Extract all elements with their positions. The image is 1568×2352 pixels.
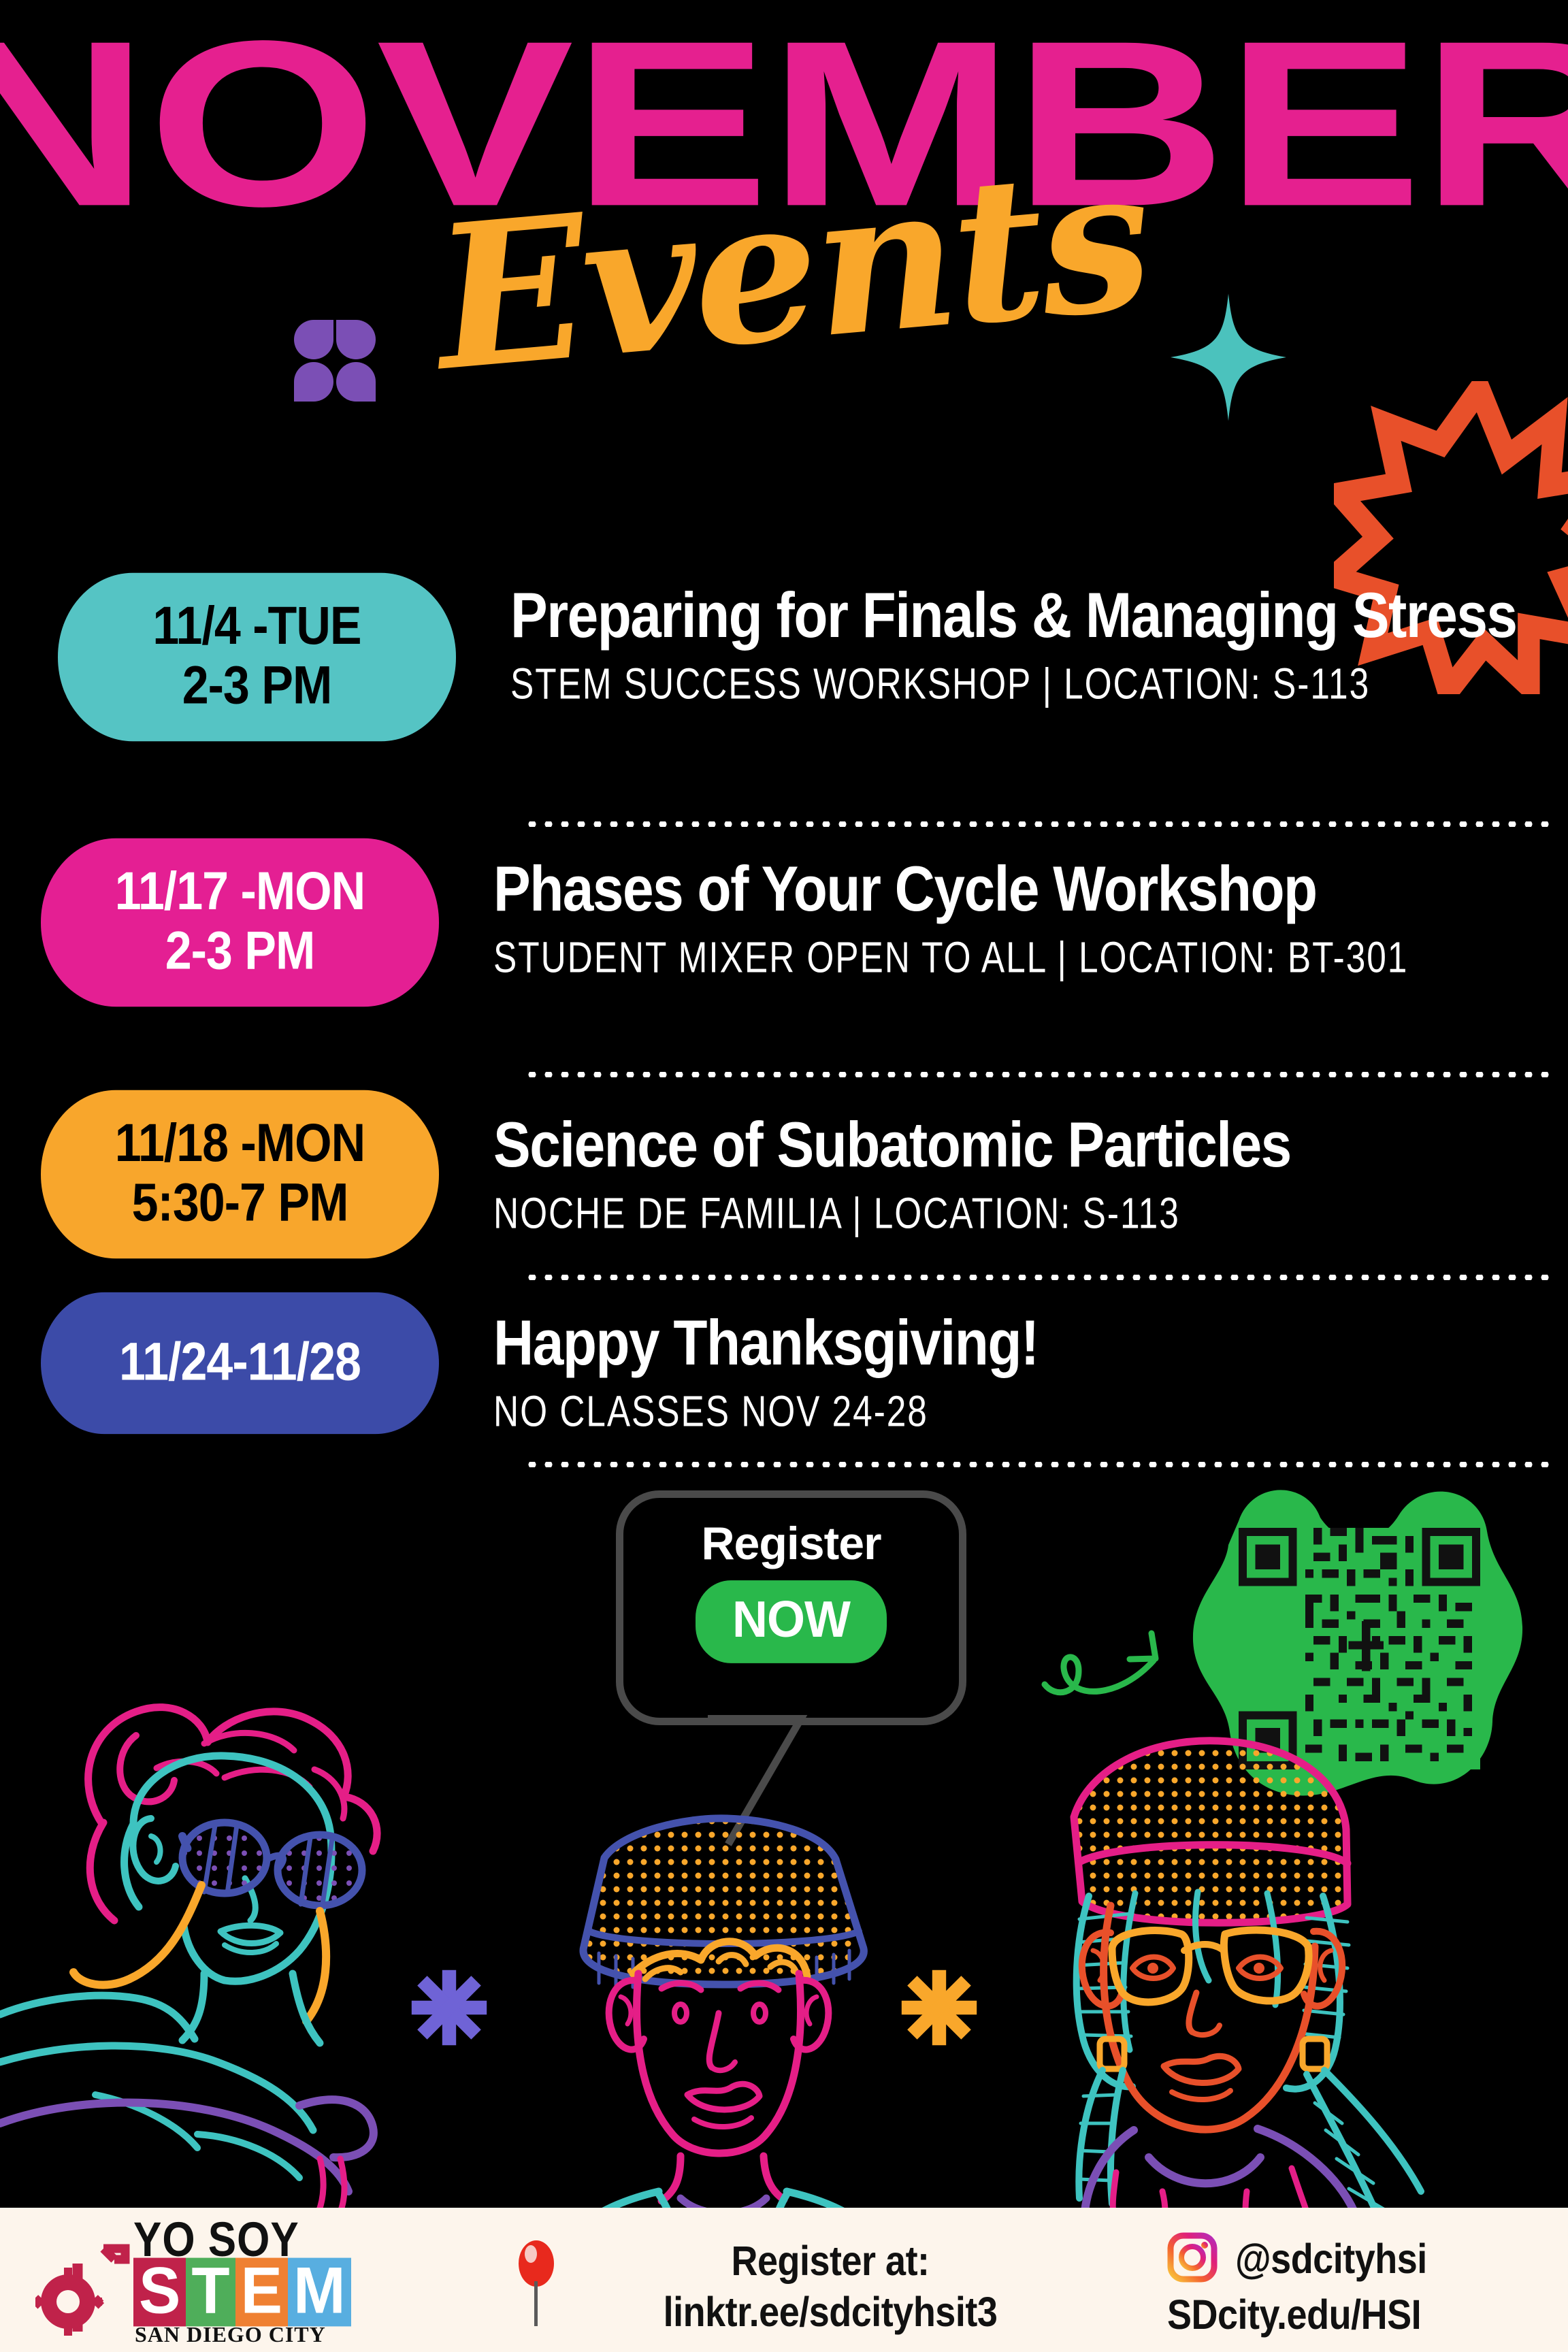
people-illustration [0,1654,1568,2212]
event-details: Science of Subatomic Particles NOCHE DE … [439,1099,1568,1230]
sparkle-icon [1171,293,1286,422]
event-time: 2-3 PM [65,655,449,715]
asterisk-orange-icon [898,1967,980,2048]
events-list: 11/4 -TUE 2-3 PM Preparing for Finals & … [0,582,1568,1504]
event-title: Science of Subatomic Particles [493,1111,1543,1179]
person-sunglasses-illustration [0,1708,377,2212]
register-at-block: Register at: linktr.ee/sdcityhsit3 [606,2236,1055,2338]
event-row[interactable]: 11/18 -MON 5:30-7 PM Science of Subatomi… [0,1099,1568,1300]
event-row[interactable]: 11/17 -MON 2-3 PM Phases of Your Cycle W… [0,847,1568,1099]
event-date-pill: 11/18 -MON 5:30-7 PM [41,1090,439,1258]
event-subtitle: NOCHE DE FAMILIA | LOCATION: S-113 [493,1189,1512,1239]
logo-letter-e: E [235,2258,288,2327]
event-subtitle: STUDENT MIXER OPEN TO ALL | LOCATION: BT… [493,933,1512,983]
map-pin-icon [517,2239,555,2327]
event-subtitle: NO CLASSES NOV 24-28 [493,1387,1512,1437]
event-date: 11/18 -MON [48,1113,432,1173]
event-time: 2-3 PM [48,921,432,981]
gear-icon [35,2236,137,2338]
event-time: 5:30-7 PM [48,1173,432,1232]
event-title: Preparing for Finals & Managing Stress [510,582,1543,650]
event-subtitle: STEM SUCCESS WORKSHOP | LOCATION: S-113 [510,659,1512,709]
page-subtitle: Events [428,140,1154,398]
register-url[interactable]: linktr.ee/sdcityhsit3 [606,2287,1055,2338]
divider [524,821,1553,827]
event-date: 11/24-11/28 [48,1332,432,1392]
instagram-handle[interactable]: @sdcityhsi [1235,2235,1427,2283]
event-date: 11/4 -TUE [65,595,449,655]
event-date-pill: 11/24-11/28 [41,1292,439,1435]
register-at-label: Register at: [606,2236,1055,2287]
instagram-icon[interactable] [1167,2232,1218,2283]
event-details: Phases of Your Cycle Workshop STUDENT MI… [439,847,1568,975]
event-row[interactable]: 11/4 -TUE 2-3 PM Preparing for Finals & … [0,582,1568,847]
logo-letter-t: T [186,2258,235,2327]
event-title: Happy Thanksgiving! [493,1309,1543,1377]
event-details: Preparing for Finals & Managing Stress S… [456,582,1568,701]
divider [524,1275,1553,1280]
flower-icon [294,320,376,402]
asterisk-purple-icon [408,1967,490,2048]
logo-letter-m: M [288,2258,351,2327]
event-date-pill: 11/17 -MON 2-3 PM [41,838,439,1007]
event-date-pill: 11/4 -TUE 2-3 PM [58,573,456,741]
yo-soy-stem-logo: YO SOY S T E M SAN DIEGO CITY COLLEGE [0,2208,436,2352]
person-glasses-cap-illustration [1074,1741,1421,2212]
website-url[interactable]: SDcity.edu/HSI [1167,2291,1421,2339]
person-bucket-hat-illustration [565,1818,882,2212]
poster-root: NOVEMBER Events 11/4 -TUE 2-3 PM Prepari… [0,0,1568,2352]
event-details: Happy Thanksgiving! NO CLASSES NOV 24-28 [439,1300,1568,1428]
divider [524,1072,1553,1077]
logo-letter-s: S [133,2258,186,2327]
event-row[interactable]: 11/24-11/28 Happy Thanksgiving! NO CLASS… [0,1300,1568,1504]
logo-stem-letters: S T E M [133,2259,351,2325]
event-date: 11/17 -MON [48,861,432,921]
divider [524,1462,1553,1467]
register-label: Register [701,1517,881,1570]
logo-college-text: SAN DIEGO CITY COLLEGE [135,2322,436,2352]
poster-header: NOVEMBER Events [0,0,1568,531]
event-title: Phases of Your Cycle Workshop [493,855,1543,924]
register-now-button[interactable]: NOW [696,1580,887,1663]
footer-bar: YO SOY S T E M SAN DIEGO CITY COLLEGE Re… [0,2208,1568,2352]
